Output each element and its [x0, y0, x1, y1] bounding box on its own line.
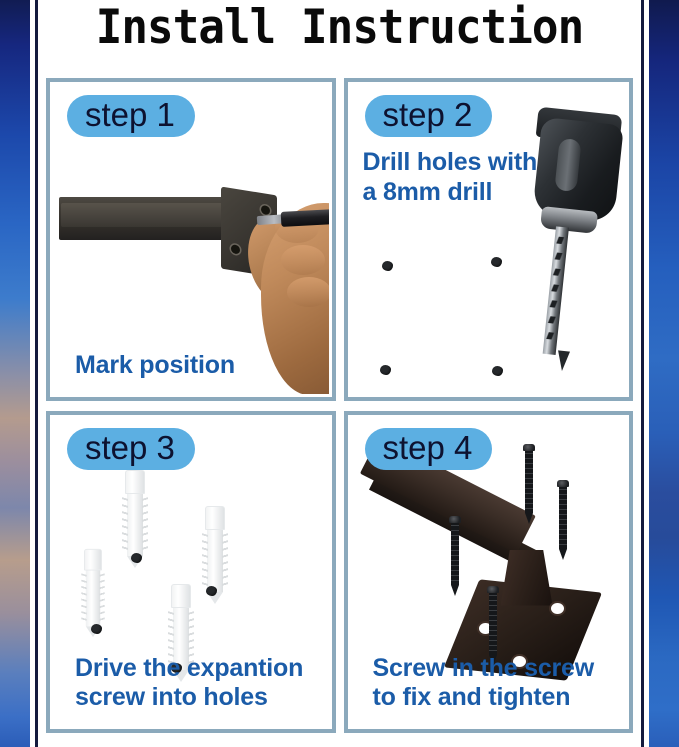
- step-panel-2-inner: step 2 Drill holes with a 8mm drill: [351, 85, 627, 394]
- instruction-sheet: Install Instruction: [38, 0, 641, 747]
- drill-hole: [491, 257, 502, 267]
- bit-flute: [549, 284, 563, 292]
- screw-point: [525, 513, 533, 524]
- left-edge-gradient-bar: [0, 0, 30, 747]
- bracket-plate-hole: [261, 205, 270, 215]
- screw-point: [559, 549, 567, 560]
- screw-icon: [449, 516, 461, 596]
- bracket-plate-hole: [231, 244, 240, 254]
- step-panel-3: step 3 Drive the expantion screw into ho…: [46, 411, 336, 734]
- install-instruction-poster: Install Instruction: [0, 0, 679, 747]
- drill-hole: [206, 586, 217, 596]
- screw-shank: [525, 451, 533, 513]
- step-badge-1: step 1: [67, 95, 195, 137]
- drill-hole: [131, 553, 142, 563]
- bit-flute: [552, 252, 566, 260]
- drill-hole: [91, 624, 102, 634]
- anchor-body: [207, 530, 223, 592]
- step-badge-4: step 4: [365, 428, 493, 470]
- step-badge-3: step 3: [67, 428, 195, 470]
- step-panel-4-inner: step 4 Screw in the screw to fix and tig…: [351, 418, 627, 727]
- step-panel-3-inner: step 3 Drive the expantion screw into ho…: [53, 418, 329, 727]
- steps-grid: step 1 Mark position: [46, 78, 633, 733]
- anchor-head: [125, 470, 145, 494]
- screw-shank: [451, 523, 459, 585]
- bit-flute: [544, 332, 558, 340]
- bracket-arm-face: [61, 203, 233, 227]
- drill-hole: [380, 365, 391, 375]
- screw-shank: [559, 487, 567, 549]
- drill-hole: [492, 366, 503, 376]
- bit-flute: [545, 316, 559, 324]
- bracket-plate-hole: [551, 603, 564, 614]
- step-caption-1: Mark position: [75, 351, 235, 380]
- drill-hole: [382, 261, 393, 271]
- anchor-body: [127, 494, 143, 556]
- anchor-head: [205, 506, 225, 530]
- screw-head: [557, 480, 569, 487]
- step-panel-1: step 1 Mark position: [46, 78, 336, 401]
- drill-bit-tip: [555, 350, 569, 371]
- step-panel-1-inner: step 1 Mark position: [53, 85, 329, 394]
- step-panel-4: step 4 Screw in the screw to fix and tig…: [344, 411, 634, 734]
- bit-flute: [554, 236, 568, 244]
- wall-anchor-icon: [84, 548, 102, 636]
- step-badge-2: step 2: [365, 95, 493, 137]
- step-panel-2: step 2 Drill holes with a 8mm drill: [344, 78, 634, 401]
- knuckle: [287, 277, 329, 307]
- step-caption-3: Drive the expantion screw into holes: [75, 654, 303, 712]
- screw-shank: [489, 593, 497, 655]
- anchor-head: [171, 584, 191, 608]
- step-caption-4: Screw in the screw to fix and tighten: [373, 654, 595, 712]
- right-edge-rule: [641, 0, 644, 747]
- drill-bit-icon: [542, 226, 568, 355]
- anchor-body: [86, 570, 100, 626]
- screw-icon: [557, 480, 569, 560]
- bit-flute: [547, 300, 561, 308]
- knuckle: [281, 245, 325, 275]
- right-edge-gradient-bar: [649, 0, 679, 747]
- step-caption-2: Drill holes with a 8mm drill: [363, 147, 538, 207]
- screw-head: [449, 516, 461, 523]
- page-title: Install Instruction: [56, 0, 623, 62]
- screw-point: [451, 585, 459, 596]
- anchor-head: [84, 548, 102, 570]
- screw-head: [523, 444, 535, 451]
- screw-head: [487, 586, 499, 593]
- bit-flute: [550, 268, 564, 276]
- screw-icon: [523, 444, 535, 524]
